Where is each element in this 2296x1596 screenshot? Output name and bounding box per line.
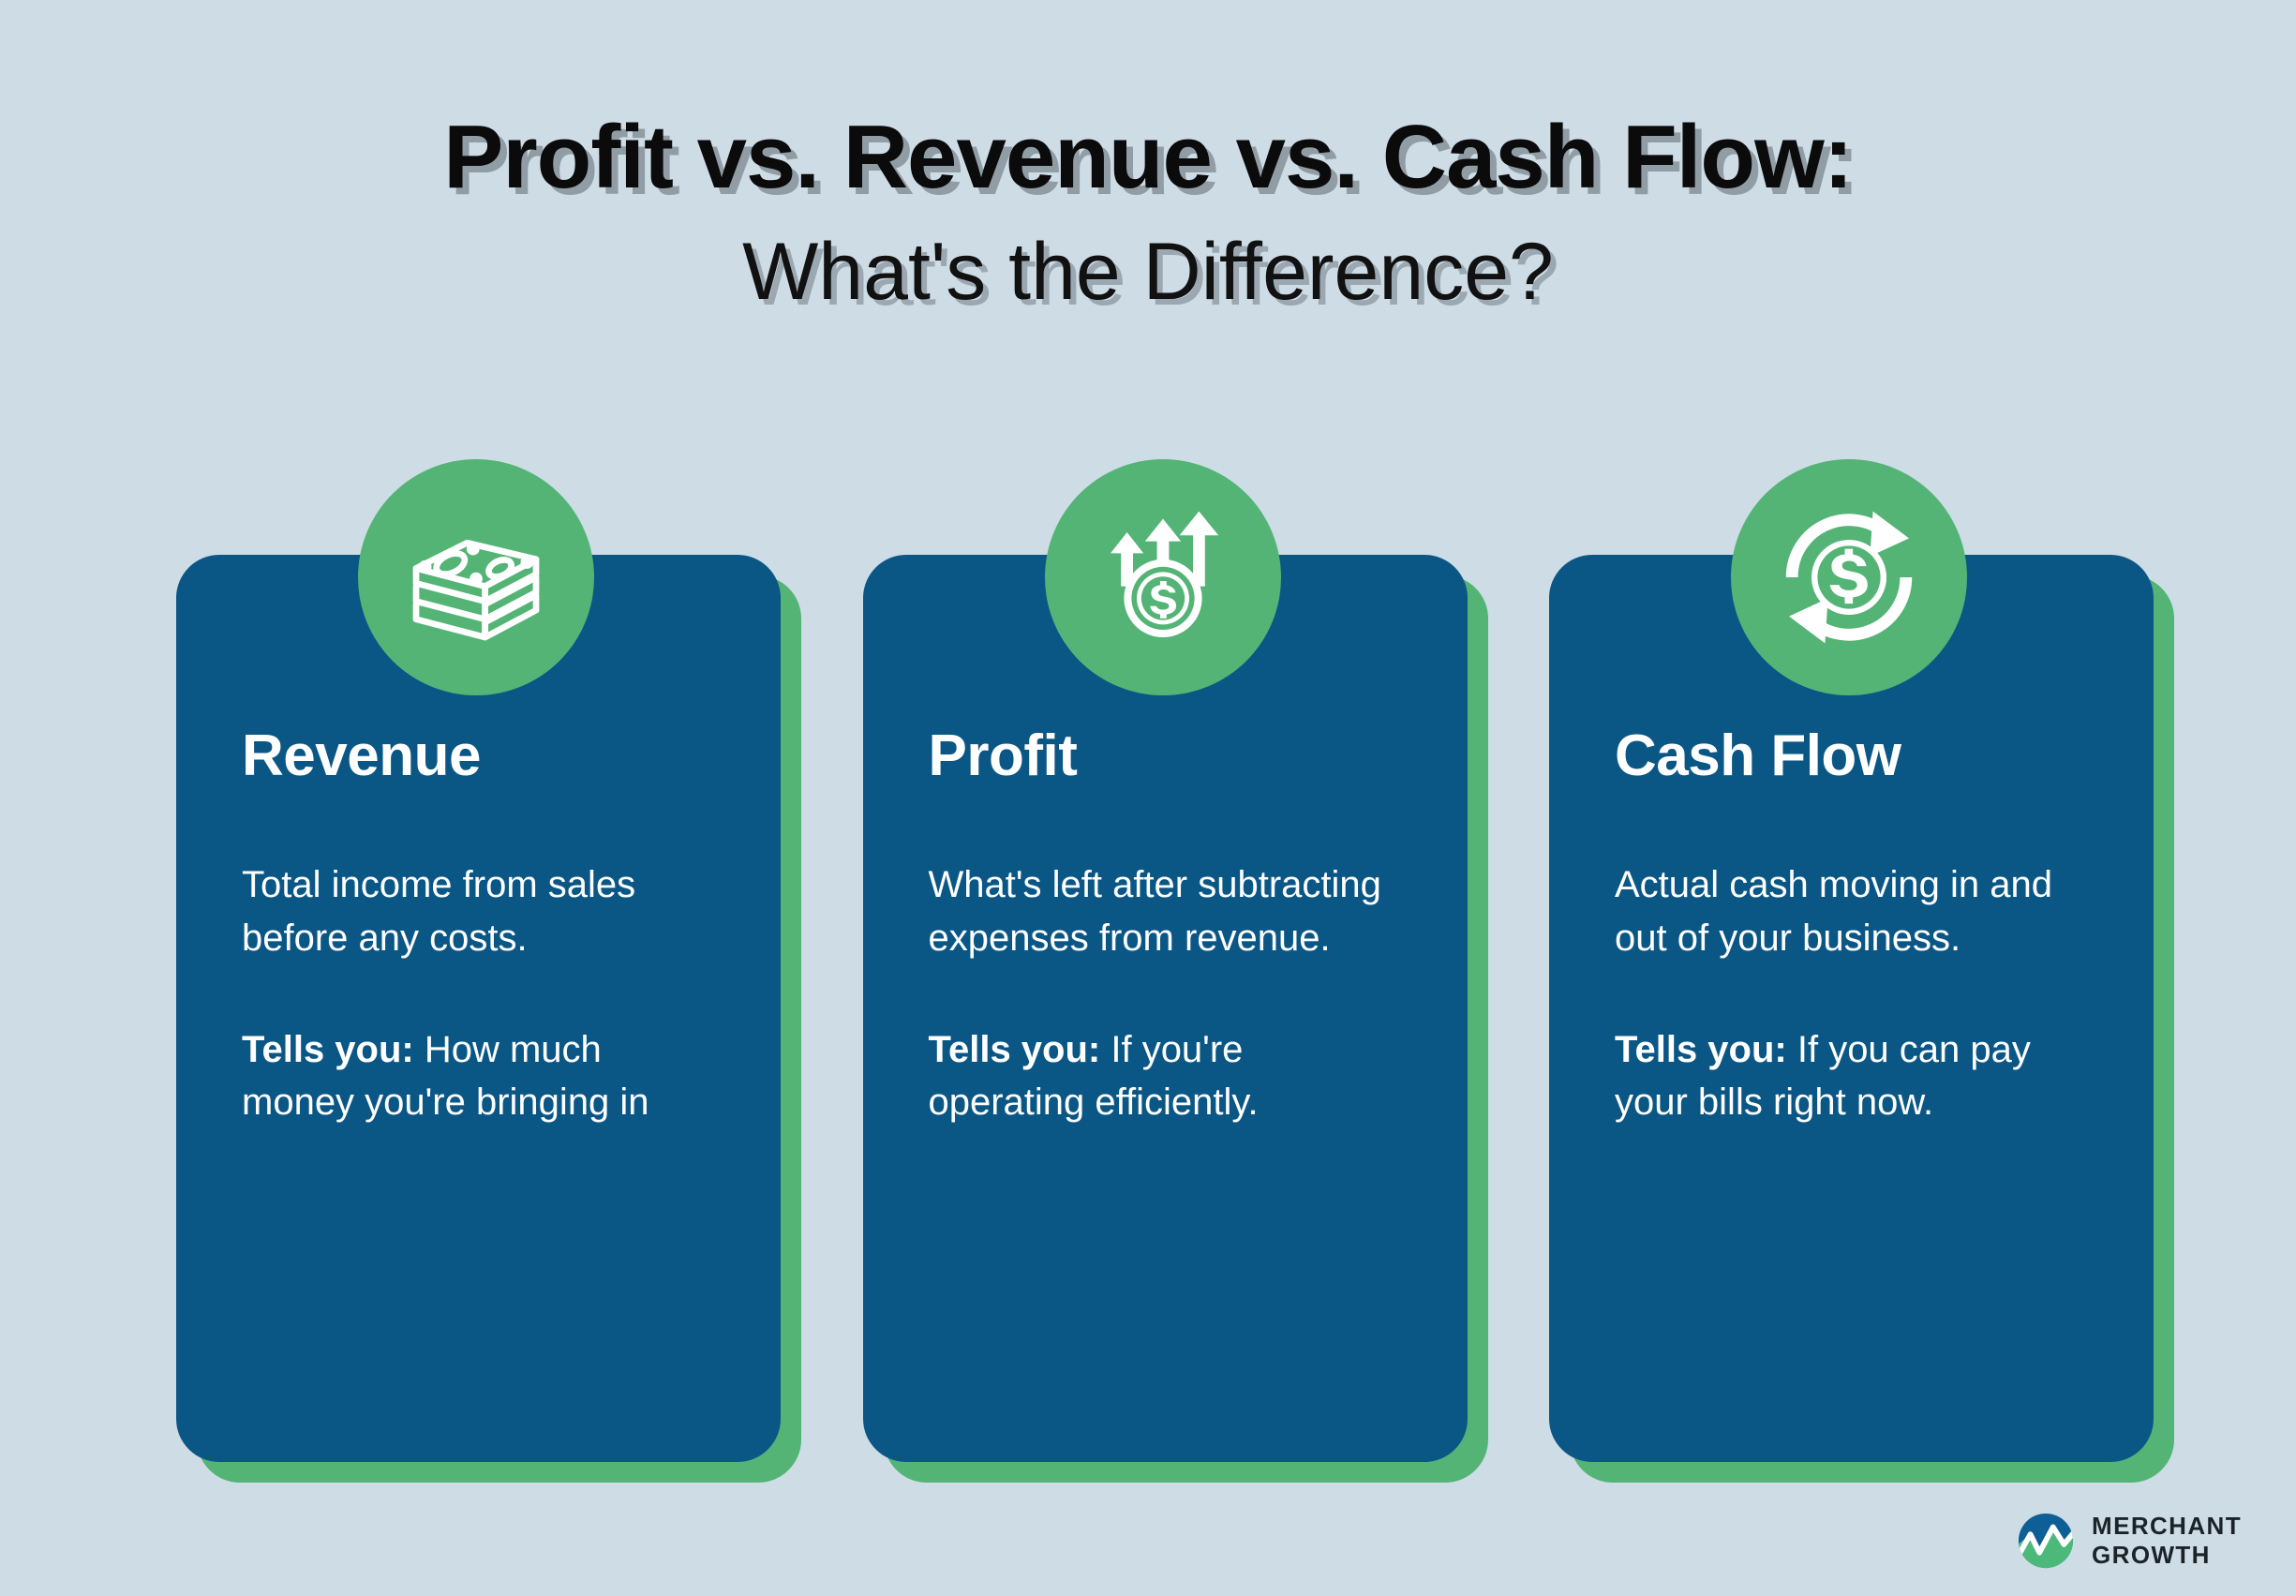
tells-you-label: Tells you: xyxy=(929,1029,1101,1070)
card-title: Profit xyxy=(929,727,1402,785)
card-tells-you: Tells you: How much money you're bringin… xyxy=(242,1023,715,1130)
card-description: What's left after subtracting expenses f… xyxy=(929,858,1402,965)
heading-block: Profit vs. Revenue vs. Cash Flow: What's… xyxy=(0,111,2296,314)
comparison-cards-row: Revenue Total income from sales before a… xyxy=(176,555,2154,1483)
card-title: Cash Flow xyxy=(1615,727,2088,785)
page-subtitle: What's the Difference? xyxy=(0,230,2296,314)
tells-you-label: Tells you: xyxy=(1615,1029,1787,1070)
card-tells-you: Tells you: If you're operating efficient… xyxy=(929,1023,1402,1130)
page-title: Profit vs. Revenue vs. Cash Flow: xyxy=(0,111,2296,205)
card-profit: Profit What's left after subtracting exp… xyxy=(863,555,1468,1483)
rising-arrows-coin-icon xyxy=(1045,459,1281,695)
card-title: Revenue xyxy=(242,727,715,785)
logo-wordmark: MERCHANT GROWTH xyxy=(2092,1512,2242,1569)
infographic-canvas: Profit vs. Revenue vs. Cash Flow: What's… xyxy=(0,0,2296,1596)
card-description: Actual cash moving in and out of your bu… xyxy=(1615,858,2088,965)
merchant-growth-logo-icon xyxy=(2017,1512,2075,1570)
tells-you-label: Tells you: xyxy=(242,1029,414,1070)
card-revenue: Revenue Total income from sales before a… xyxy=(176,555,781,1483)
merchant-growth-logo: MERCHANT GROWTH xyxy=(2017,1512,2242,1570)
card-cash-flow: Cash Flow Actual cash moving in and out … xyxy=(1549,555,2154,1483)
cash-flow-cycle-icon xyxy=(1731,459,1967,695)
cash-stack-icon xyxy=(358,459,594,695)
card-tells-you: Tells you: If you can pay your bills rig… xyxy=(1615,1023,2088,1130)
card-description: Total income from sales before any costs… xyxy=(242,858,715,965)
